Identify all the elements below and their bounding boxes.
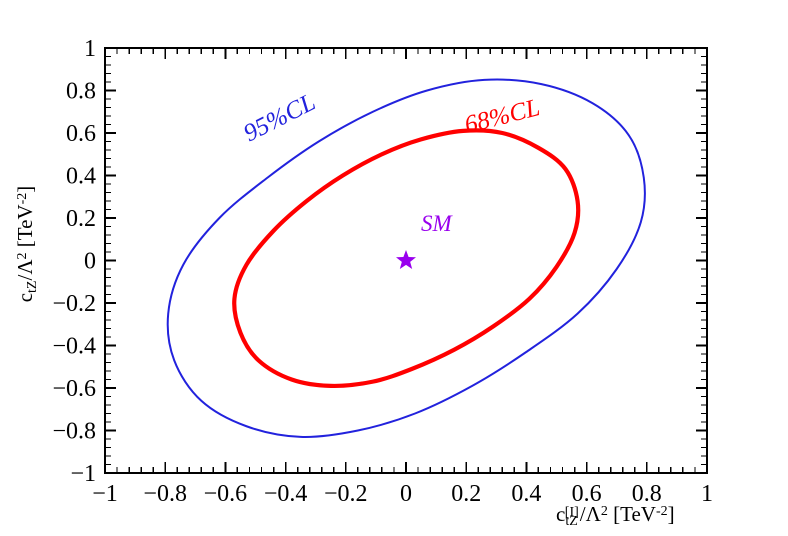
- y-tick-label: 0.4: [66, 164, 96, 190]
- y-axis-title: ctZ/Λ2 [TeV-2]: [13, 186, 40, 303]
- x-tick-label: 0.4: [511, 481, 541, 507]
- y-tick-label: −0.6: [52, 376, 96, 402]
- y-tick-label: −0.2: [52, 291, 96, 317]
- sm-label: SM: [421, 211, 454, 236]
- x-tick-label: −0.4: [264, 481, 308, 507]
- y-tick-label: −0.8: [52, 419, 96, 445]
- x-tick-label: −0.2: [324, 481, 368, 507]
- y-title-c: c: [13, 293, 37, 302]
- y-title-sub: tZ: [25, 281, 40, 293]
- y-axis-title-group: ctZ/Λ2 [TeV-2]: [13, 186, 40, 303]
- y-title-unit-open: [TeV: [13, 204, 37, 252]
- y-title-unit-sup: -2: [15, 193, 30, 205]
- x-title-unit-close: ]: [668, 502, 675, 526]
- x-tick-label: 0.2: [451, 481, 481, 507]
- x-tick-label: 0: [400, 481, 412, 507]
- y-title-unit-close: ]: [13, 186, 37, 193]
- y-tick-label: −1: [70, 461, 96, 487]
- y-tick-label: 0.6: [66, 121, 96, 147]
- x-title-sup: [I]: [565, 505, 579, 520]
- x-tick-label: −0.8: [143, 481, 187, 507]
- x-title-unit-open: [TeV: [608, 502, 656, 526]
- x-tick-label: −1: [92, 481, 118, 507]
- y-title-rest: /Λ: [13, 259, 37, 281]
- x-title-rest: /Λ: [580, 502, 602, 526]
- y-tick-label: 0.2: [66, 206, 96, 232]
- y-tick-label: 0.8: [66, 79, 96, 105]
- y-tick-label: 0: [84, 249, 96, 275]
- x-title-unit-sup: -2: [656, 504, 668, 519]
- x-axis-title: ctZ[I]/Λ2 [TeV-2]: [556, 502, 675, 529]
- y-tick-label: 1: [84, 36, 96, 62]
- x-title-rest-sup: 2: [601, 504, 608, 519]
- y-tick-label: −0.4: [52, 334, 96, 360]
- x-tick-label: −0.6: [204, 481, 248, 507]
- figure-canvas: −1−0.8−0.6−0.4−0.200.20.40.60.81 −1−0.8−…: [0, 0, 788, 536]
- y-axis-tick-labels: −1−0.8−0.6−0.4−0.200.20.40.60.81: [52, 36, 96, 487]
- contour-plot: −1−0.8−0.6−0.4−0.200.20.40.60.81 −1−0.8−…: [0, 0, 788, 536]
- x-tick-label: 1: [701, 481, 713, 507]
- y-title-rest-sup: 2: [15, 252, 30, 259]
- x-axis-title-group: ctZ[I]/Λ2 [TeV-2]: [556, 502, 675, 529]
